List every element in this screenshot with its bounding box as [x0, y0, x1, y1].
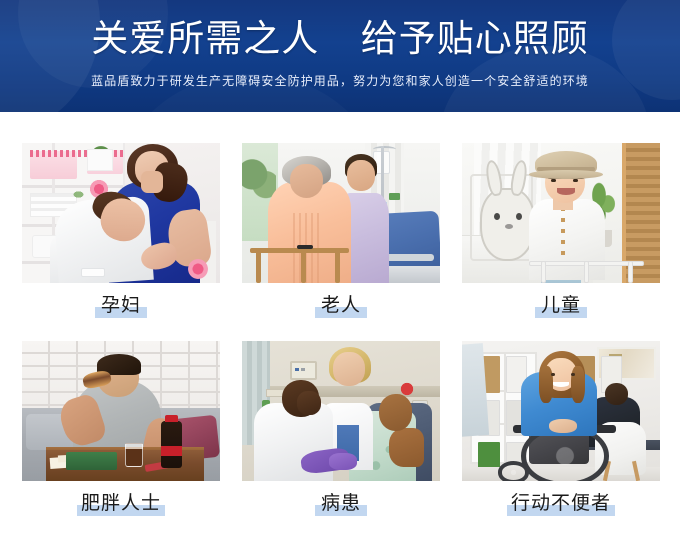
pink-flower: [182, 258, 214, 280]
rail-leg: [541, 261, 546, 283]
cell-label-text: 孕妇: [101, 294, 141, 316]
nurse-head: [347, 160, 375, 191]
grid-cell-child: 儿童: [462, 143, 660, 327]
page-title-part1: 关爱所需之人: [91, 17, 319, 60]
patient-shoulder: [389, 428, 425, 467]
patient-head: [379, 394, 413, 430]
cell-label: 孕妇: [22, 283, 220, 327]
grid-cell-pregnant-woman: 孕妇: [22, 143, 220, 327]
cola-bottle: [161, 421, 183, 469]
bunny-nose: [505, 224, 513, 229]
doctor-face: [297, 391, 321, 415]
cell-label-text: 病患: [321, 492, 361, 514]
grid-cell-elderly: 老人: [242, 143, 440, 327]
grid-cell-obese-person: 肥胖人士: [22, 341, 220, 525]
cell-label: 老人: [242, 283, 440, 327]
page-subtitle: 蓝品盾致力于研发生产无障碍安全防护用品，努力为您和家人创造一个安全舒适的环境: [0, 72, 680, 90]
walker-leg: [335, 249, 340, 283]
woman-hair-side: [571, 366, 585, 402]
cell-label: 病患: [242, 481, 440, 525]
walker-leg: [256, 248, 261, 283]
bottle-label: [161, 446, 183, 456]
walker-leg: [301, 248, 306, 283]
cell-label-text: 行动不便者: [511, 492, 611, 514]
pregnant-woman-photo: [22, 143, 220, 283]
promo-banner-page: 关爱所需之人 给予贴心照顾 蓝品盾致力于研发生产无障碍安全防护用品，努力为您和家…: [0, 0, 680, 535]
grid-row: 孕妇: [22, 143, 660, 327]
bunny-eye: [494, 213, 500, 220]
patient-photo: [242, 341, 440, 481]
page-title-part2: 给予贴心照顾: [361, 17, 589, 60]
header-banner: 关爱所需之人 给予贴心照顾 蓝品盾致力于研发生产无障碍安全防护用品，努力为您和家…: [0, 0, 680, 112]
elderly-person-photo: [242, 143, 440, 283]
man-cuff: [81, 268, 105, 278]
child-photo: [462, 143, 660, 283]
cell-label-text: 老人: [321, 294, 361, 316]
cell-label-text: 儿童: [541, 294, 581, 316]
mobility-impaired-photo: [462, 341, 660, 481]
grid-cell-patient: 病患: [242, 341, 440, 525]
cell-label: 肥胖人士: [22, 481, 220, 525]
wheelchair-caster: [498, 461, 530, 481]
monitor-button: [301, 368, 305, 371]
bunny-pillow: [480, 188, 535, 261]
grid-row: 肥胖人士: [22, 341, 660, 525]
boy-smile: [557, 188, 575, 195]
woman-eye: [571, 373, 575, 376]
walker-grip: [297, 245, 313, 250]
monitor-button: [295, 368, 299, 371]
medical-device: [389, 193, 401, 200]
cell-label: 行动不便者: [462, 481, 660, 525]
cola-glass: [125, 443, 143, 467]
rail-leg: [584, 261, 589, 283]
woman-neck: [141, 171, 163, 193]
elderly-head: [290, 164, 324, 198]
rail-leg: [628, 261, 633, 283]
baby-walker-rail: [529, 261, 644, 283]
audience-grid: 孕妇: [22, 143, 660, 525]
cell-label-text: 肥胖人士: [81, 492, 161, 514]
cell-label: 儿童: [462, 283, 660, 327]
hat-brim: [529, 170, 602, 180]
purple-glove: [329, 453, 357, 470]
grid-cell-mobility-impaired: 行动不便者: [462, 341, 660, 525]
woman-hair-side: [539, 366, 553, 402]
page-title: 关爱所需之人 给予贴心照顾: [0, 17, 680, 61]
pizza-box: [66, 452, 117, 470]
doctor-head: [333, 352, 365, 386]
bottle-cap: [165, 415, 179, 422]
flower-vase: [87, 149, 113, 171]
bunny-eye: [516, 213, 522, 220]
obese-person-photo: [22, 341, 220, 481]
walking-frame: [250, 244, 349, 283]
woman-hands: [549, 419, 577, 433]
wall-monitor: [290, 361, 318, 381]
